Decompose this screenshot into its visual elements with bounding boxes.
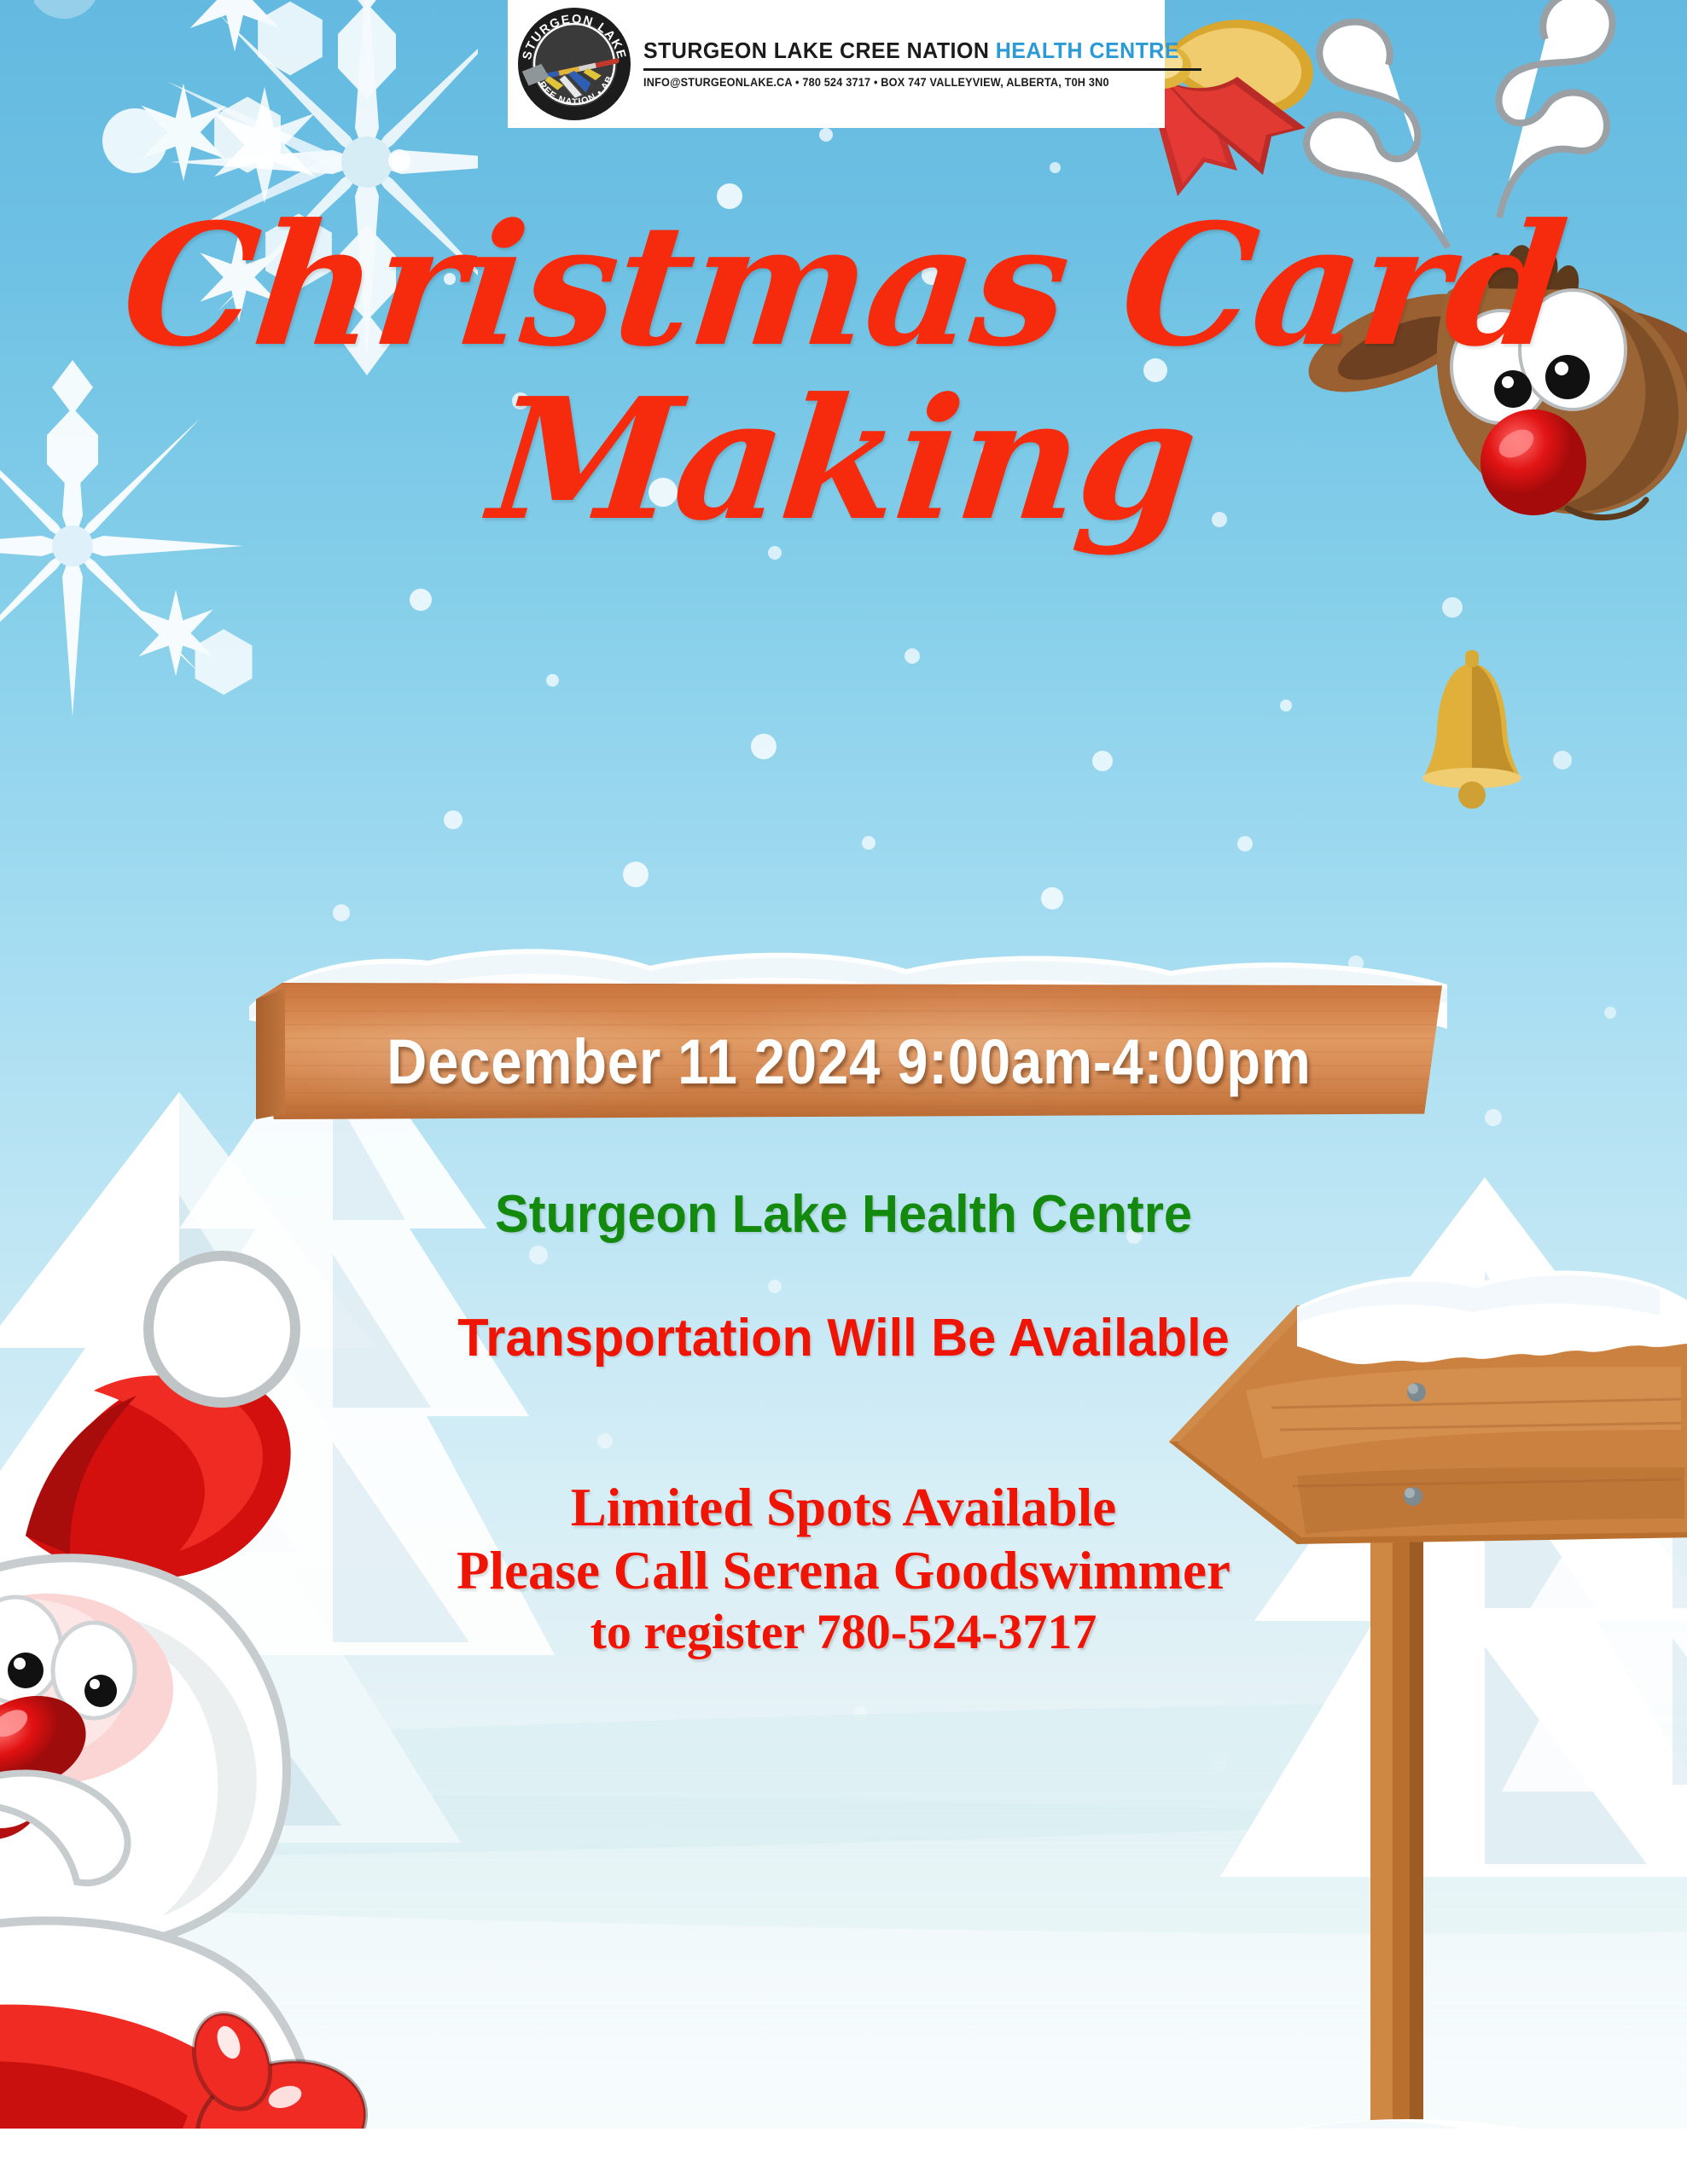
date-sign: December 11 2024 9:00am-4:00pm — [256, 947, 1442, 1130]
header-divider — [643, 68, 1201, 71]
transportation-note: Transportation Will Be Available — [34, 1308, 1654, 1368]
organization-name: STURGEON LAKE CREE NATION HEALTH CENTRE — [643, 39, 1179, 62]
registration-block: Limited Spots Available Please Call Sere… — [0, 1476, 1687, 1661]
title-line-2: Making — [0, 383, 1687, 537]
register-phone-line: to register 780-524-3717 — [0, 1603, 1687, 1661]
limited-spots-line: Limited Spots Available — [0, 1476, 1687, 1539]
poster-title: Christmas Card Making — [0, 209, 1687, 537]
sturgeon-lake-logo: STURGEON LAKE CREE NATION • AB — [508, 0, 640, 128]
christmas-card-making-poster: STURGEON LAKE CREE NATION • AB — [0, 0, 1687, 2184]
venue-location: Sturgeon Lake Health Centre — [34, 1184, 1654, 1245]
organization-name-main: STURGEON LAKE CREE NATION — [643, 38, 996, 63]
event-date-time: December 11 2024 9:00am-4:00pm — [327, 1025, 1370, 1098]
contact-person-line: Please Call Serena Goodswimmer — [0, 1539, 1687, 1602]
bottom-white-margin — [0, 2129, 1687, 2184]
organization-name-suffix: HEALTH CENTRE — [996, 38, 1179, 63]
plank-left-edge — [256, 983, 285, 1119]
header-text-block: STURGEON LAKE CREE NATION HEALTH CENTRE … — [640, 0, 1213, 128]
header-contact-line: INFO@STURGEONLAKE.CA • 780 524 3717 • BO… — [643, 76, 1168, 89]
header-logo-band: STURGEON LAKE CREE NATION • AB — [508, 0, 1165, 128]
title-line-1: Christmas Card — [0, 209, 1687, 363]
